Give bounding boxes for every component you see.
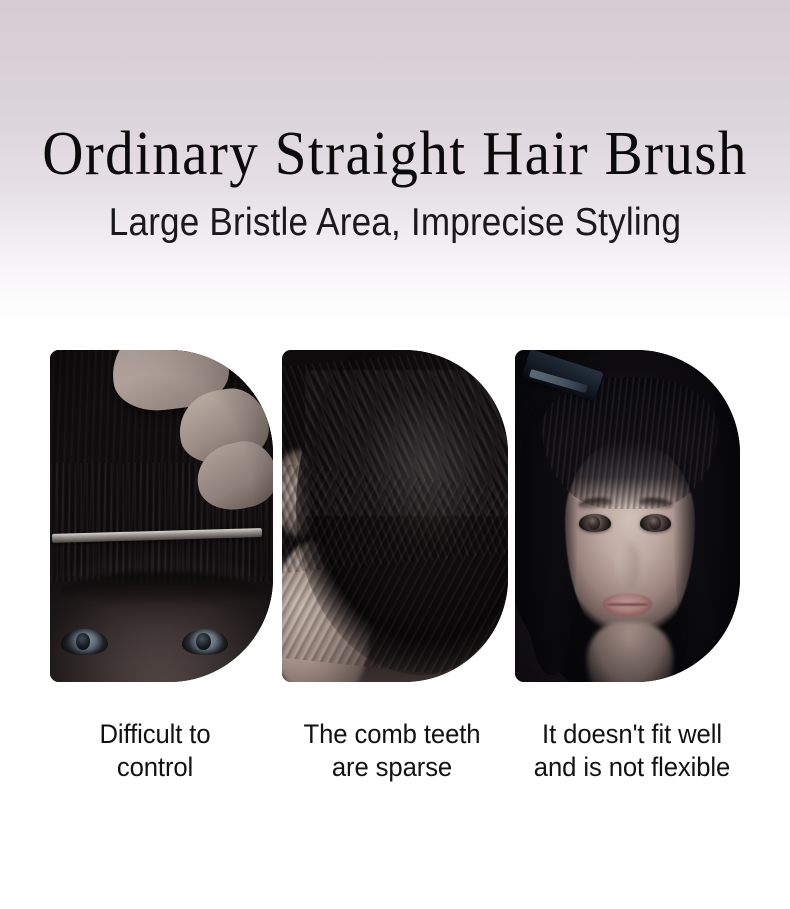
caption-portrait: It doesn't fit well and is not flexible [514, 718, 750, 784]
caption-fringe-trim: Difficult to control [46, 718, 265, 784]
caption-line-2: and is not flexible [534, 752, 730, 782]
vignette [515, 350, 740, 682]
caption-line-1: Difficult to [99, 719, 210, 749]
caption-line-1: It doesn't fit well [542, 719, 722, 749]
photo-portrait [515, 350, 740, 682]
caption-line-2: control [117, 752, 193, 782]
vignette [50, 350, 273, 682]
image-card-flyaway-hair [282, 350, 508, 682]
image-card-fringe-trim [50, 350, 273, 682]
photo-flyaway-hair [282, 350, 508, 682]
page-header: Ordinary Straight Hair Brush Large Brist… [0, 118, 790, 248]
caption-row: Difficult to control The comb teeth are … [40, 718, 750, 798]
image-card-portrait [515, 350, 740, 682]
caption-line-1: The comb teeth [304, 719, 481, 749]
page-subtitle: Large Bristle Area, Imprecise Styling [40, 198, 751, 248]
caption-flyaway-hair: The comb teeth are sparse [278, 718, 506, 784]
page-title: Ordinary Straight Hair Brush [32, 118, 759, 190]
caption-line-2: are sparse [332, 752, 452, 782]
photo-fringe-trim [50, 350, 273, 682]
product-feature-page: Ordinary Straight Hair Brush Large Brist… [0, 0, 790, 909]
image-card-row [50, 350, 740, 682]
